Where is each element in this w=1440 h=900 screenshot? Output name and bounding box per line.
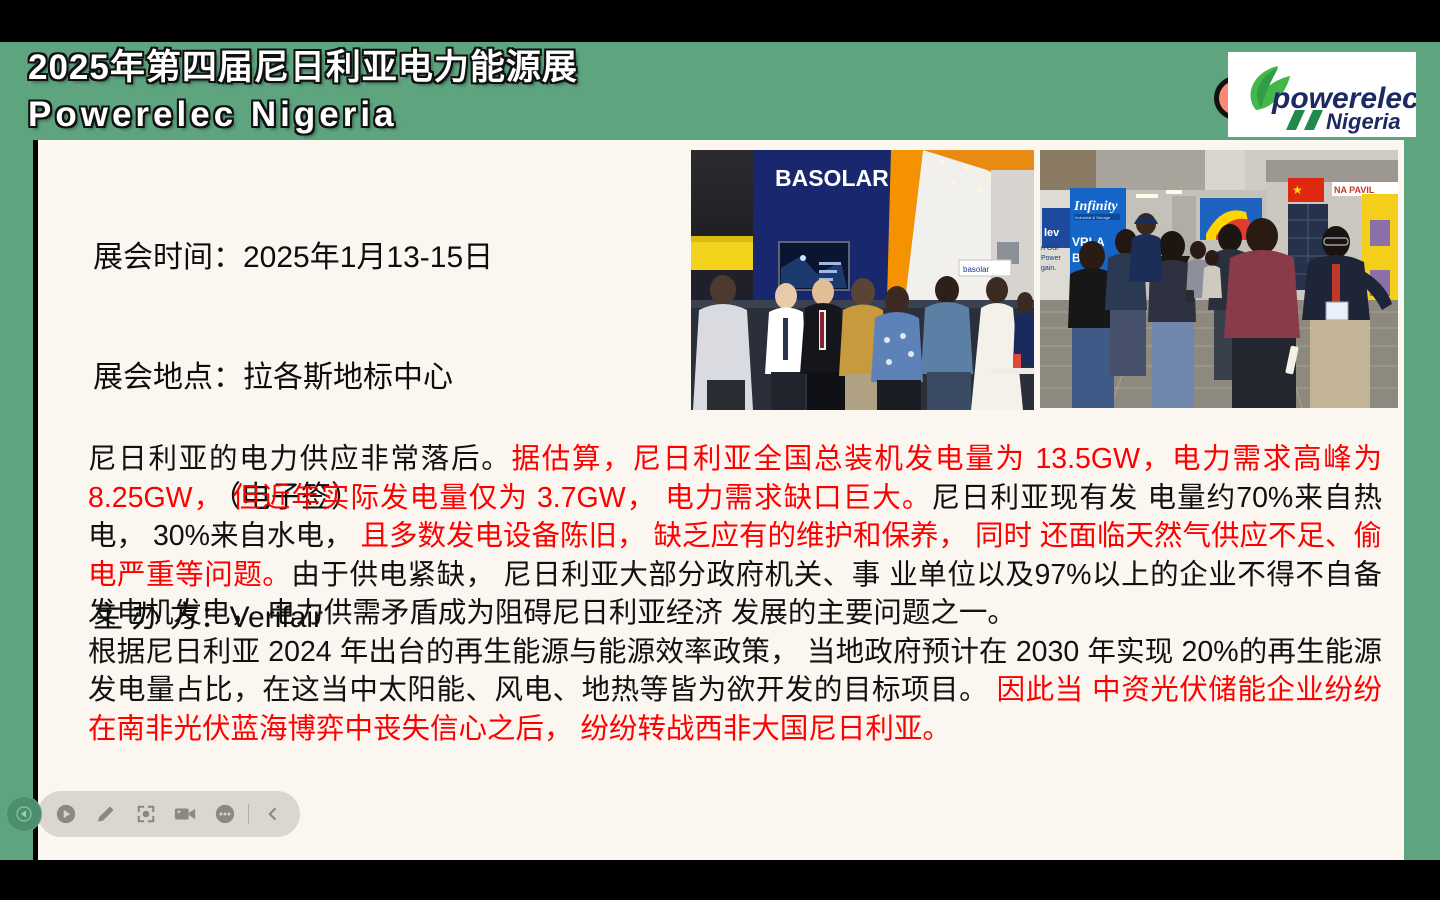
svg-text:Power: Power — [1041, 255, 1062, 262]
svg-text:Infinity: Infinity — [1073, 199, 1118, 214]
svg-text:Nigeria: Nigeria — [1326, 109, 1401, 134]
chevron-left-icon — [262, 804, 282, 824]
event-date-line: 展会时间：2025年1月13-15日 — [93, 238, 493, 278]
pen-button[interactable] — [86, 793, 126, 835]
record-button[interactable] — [166, 793, 206, 835]
svg-text:★: ★ — [1292, 183, 1303, 197]
slide-title-chinese: 2025年第四届尼日利亚电力能源展 — [28, 44, 1128, 91]
svg-text:basolar: basolar — [963, 265, 990, 274]
ellipsis-circle-icon — [214, 803, 236, 825]
svg-text:NA PAVIL: NA PAVIL — [1334, 185, 1375, 195]
svg-text:n Out: n Out — [1041, 245, 1058, 252]
p1-seg-0: 尼日利亚的电力供应非常落后。 — [88, 443, 512, 475]
svg-text:Industrial & Storage: Industrial & Storage — [1075, 215, 1111, 220]
pencil-icon — [95, 803, 117, 825]
slide-title-english: Powerelec Nigeria — [28, 91, 1128, 138]
body-paragraph-1: 尼日利亚的电力供应非常落后。据估算，尼日利亚全国总装机发电量为 13.5GW，电… — [88, 440, 1382, 633]
body-copy: 尼日利亚的电力供应非常落后。据估算，尼日利亚全国总装机发电量为 13.5GW，电… — [88, 440, 1382, 748]
prev-slide-button[interactable] — [6, 796, 42, 832]
more-button[interactable] — [205, 793, 245, 835]
video-camera-icon — [173, 803, 197, 825]
photo-exhibition-aisle-crowd: lev n Out Power gain. Infinity Industria… — [1040, 150, 1398, 408]
slide-header-titles: 2025年第四届尼日利亚电力能源展 Powerelec Nigeria — [28, 44, 1128, 138]
svg-text:lev: lev — [1044, 227, 1060, 239]
collapse-button[interactable] — [252, 793, 292, 835]
laser-pointer-icon — [135, 803, 157, 825]
body-paragraph-2: 根据尼日利亚 2024 年出台的再生能源与能源效率政策， 当地政府预计在 203… — [88, 633, 1382, 749]
right-margin-strip — [1404, 140, 1440, 860]
toolbar-separator — [248, 804, 249, 824]
play-left-triangle-icon — [16, 806, 32, 822]
slide-canvas: 展会时间：2025年1月13-15日 展会地点：拉各斯地标中心 （电子签） 主 … — [38, 140, 1404, 860]
svg-text:gain.: gain. — [1041, 265, 1056, 272]
photo-exhibition-booth-basolar: BASOLAR — [691, 150, 1034, 410]
play-circle-icon — [55, 803, 77, 825]
photo-1-illustration: BASOLAR — [691, 150, 1034, 410]
play-button[interactable] — [46, 793, 86, 835]
svg-text:BASOLAR: BASOLAR — [775, 165, 889, 191]
powerelec-logo-icon: powerelec Nigeria — [1228, 52, 1416, 137]
event-venue-line: 展会地点：拉各斯地标中心 — [93, 358, 493, 398]
powerelec-logo: powerelec Nigeria — [1228, 52, 1416, 137]
left-margin-strip — [0, 140, 33, 860]
slide-control-toolbar[interactable] — [38, 791, 300, 837]
presentation-stage: 2025年第四届尼日利亚电力能源展 Powerelec Nigeria powe… — [0, 0, 1440, 900]
photo-2-illustration: lev n Out Power gain. Infinity Industria… — [1040, 150, 1398, 408]
laser-button[interactable] — [126, 793, 166, 835]
